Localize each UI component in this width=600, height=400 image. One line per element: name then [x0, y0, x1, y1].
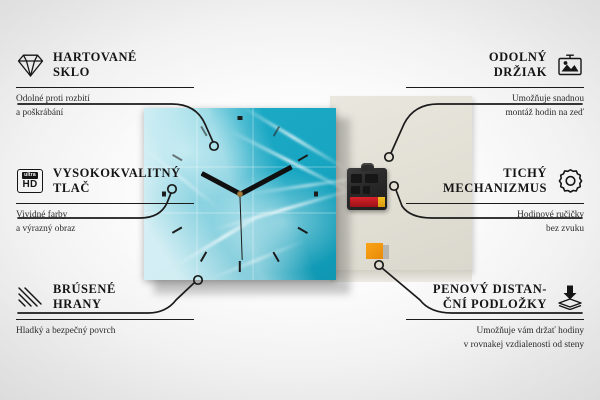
feature-header: TICHÝ MECHANIZMUS — [406, 164, 584, 198]
clock-minute-hand — [239, 165, 292, 196]
clock-tick — [200, 126, 207, 136]
feature-description: Umožňuje vám držať hodiny v rovnakej vzd… — [406, 325, 584, 351]
feature-header: ultra HD VYSOKOKVALITNÝ TLAČ — [16, 164, 194, 198]
movement-detail — [365, 174, 378, 183]
battery-terminal — [378, 197, 385, 207]
clock-tick — [238, 116, 243, 120]
ground-edges-icon — [16, 283, 44, 311]
feature-description: Umožňuje snadnou montáž hodin na zeď — [406, 93, 584, 119]
movement-detail — [351, 174, 362, 183]
picture-hanger-icon — [556, 51, 584, 79]
foam-spacer-pad — [366, 243, 383, 259]
clock-center-cap — [237, 191, 243, 197]
clock-tick — [273, 126, 280, 136]
feature-title: ODOLNÝ DRŽIAK — [489, 50, 547, 81]
feature-divider — [406, 203, 584, 204]
clock-tick — [273, 252, 280, 262]
clock-movement — [347, 168, 387, 210]
feature-header: PENOVÝ DISTAN- ČNÍ PODLOŽKY — [406, 280, 584, 314]
stacked-arrow-icon — [556, 283, 584, 311]
clock-tick — [298, 154, 308, 161]
feature-hardened-glass: HARTOVANÉ SKLO Odolné proti rozbití a po… — [16, 48, 194, 120]
feature-title: BRÚSENÉ HRANY — [53, 282, 116, 313]
movement-detail — [363, 186, 370, 194]
feature-description: Hladký a bezpečný povrch — [16, 325, 194, 338]
feature-header: HARTOVANÉ SKLO — [16, 48, 194, 82]
diamond-icon — [16, 51, 44, 79]
clock-hour-hand — [200, 171, 241, 196]
feature-description: Odolné proti rozbití a poškrábání — [16, 93, 194, 119]
movement-detail — [351, 186, 360, 194]
clock-tick — [239, 261, 241, 272]
feature-ground-edges: BRÚSENÉ HRANY Hladký a bezpečný povrch — [16, 280, 194, 339]
feature-header: BRÚSENÉ HRANY — [16, 280, 194, 314]
feature-divider — [406, 319, 584, 320]
gear-icon — [556, 167, 584, 195]
feature-header: ODOLNÝ DRŽIAK — [406, 48, 584, 82]
feature-foam-spacers: PENOVÝ DISTAN- ČNÍ PODLOŽKY Umožňuje vám… — [406, 280, 584, 352]
feature-title: HARTOVANÉ SKLO — [53, 50, 137, 81]
ultra-hd-main-text: HD — [22, 180, 37, 190]
product-infographic: HARTOVANÉ SKLO Odolné proti rozbití a po… — [0, 0, 600, 400]
feature-description: Hodinové ručičky bez zvuku — [406, 209, 584, 235]
ultra-hd-small-text: ultra — [22, 172, 38, 178]
clock-tick — [298, 227, 308, 234]
feature-divider — [16, 319, 194, 320]
clock-second-hand — [239, 194, 243, 260]
feature-description: Vividné farby a výrazný obraz — [16, 209, 194, 235]
movement-hanger-nub — [361, 163, 374, 171]
feature-title: TICHÝ MECHANIZMUS — [443, 166, 547, 197]
ultra-hd-icon: ultra HD — [16, 167, 44, 195]
clock-tick — [200, 252, 207, 262]
clock-tick — [315, 192, 319, 197]
feature-divider — [406, 87, 584, 88]
feature-silent-mechanism: TICHÝ MECHANIZMUS Hodinové ručičky bez z… — [406, 164, 584, 236]
feature-title: PENOVÝ DISTAN- ČNÍ PODLOŽKY — [433, 282, 547, 313]
feature-title: VYSOKOKVALITNÝ TLAČ — [53, 166, 181, 197]
feature-divider — [16, 203, 194, 204]
feature-high-quality-print: ultra HD VYSOKOKVALITNÝ TLAČ Vividné far… — [16, 164, 194, 236]
feature-divider — [16, 87, 194, 88]
feature-durable-hanger: ODOLNÝ DRŽIAK Umožňuje snadnou montáž ho… — [406, 48, 584, 120]
clock-tick — [172, 154, 182, 161]
